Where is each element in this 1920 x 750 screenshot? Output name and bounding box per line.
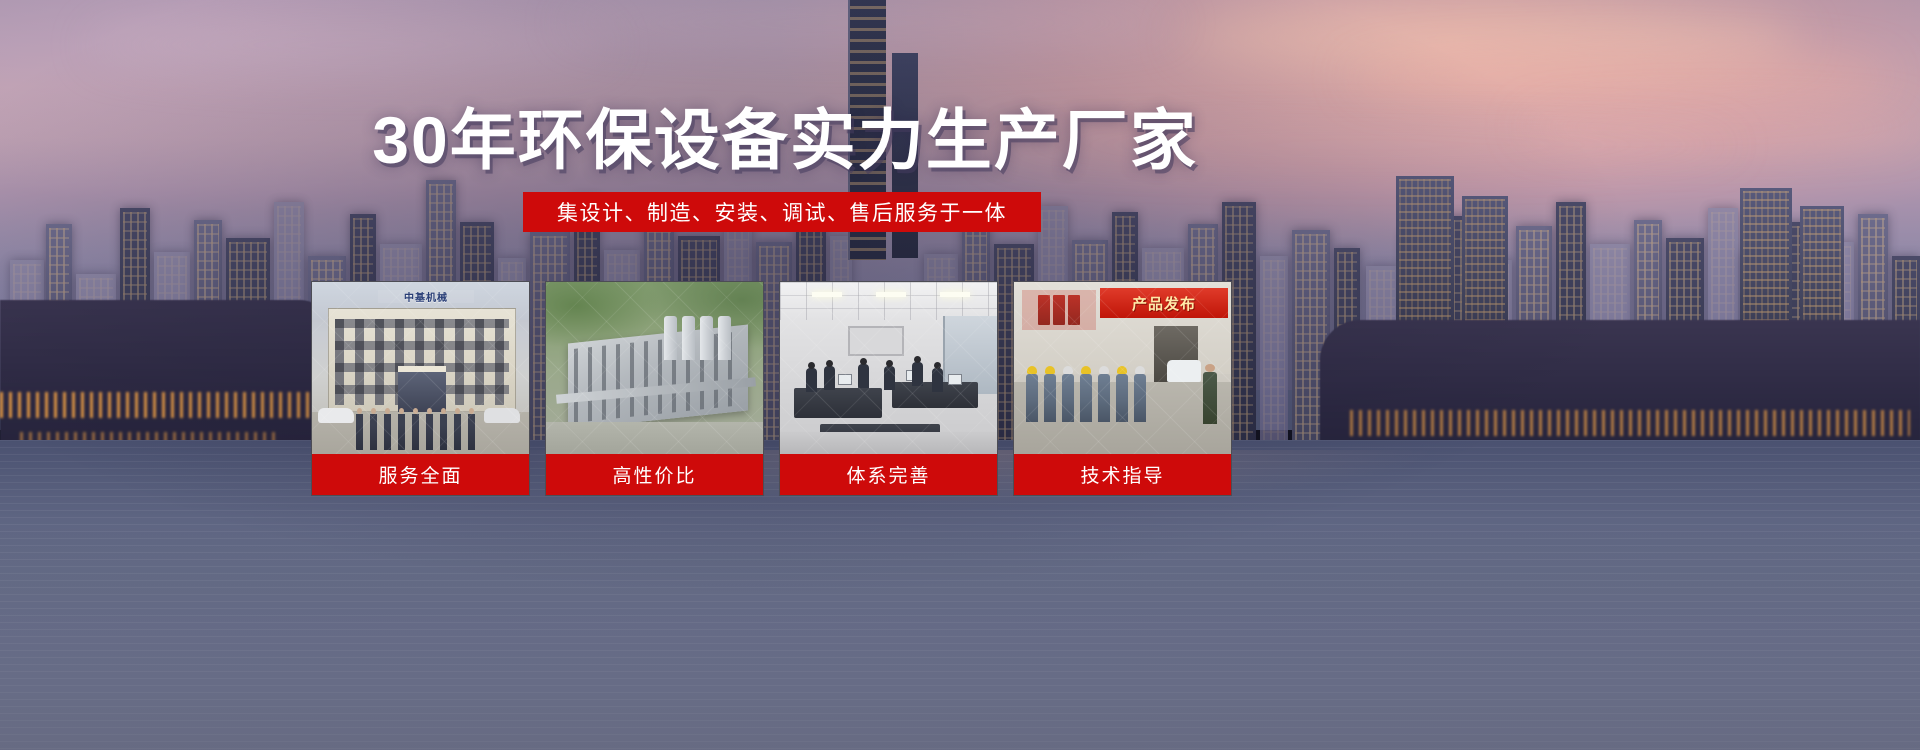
workshop-training-photo: 产品发布 [1014, 282, 1231, 454]
building-sign-text: 中基机械 [378, 290, 474, 303]
feature-card-caption: 服务全面 [312, 454, 529, 495]
aerial-plant-photo [546, 282, 763, 454]
feature-card[interactable]: 体系完善 [779, 281, 998, 496]
banner-headline: 30年环保设备实力生产厂家 [0, 104, 1570, 176]
feature-card-caption: 高性价比 [546, 454, 763, 495]
banner-content: 30年环保设备实力生产厂家 集设计、制造、安装、调试、售后服务于一体 中基机械 [0, 0, 1920, 750]
feature-card-caption: 体系完善 [780, 454, 997, 495]
banner-subtitle-bar: 集设计、制造、安装、调试、售后服务于一体 [523, 192, 1041, 232]
office-interior-photo [780, 282, 997, 454]
feature-card-caption: 技术指导 [1014, 454, 1231, 495]
feature-card-list: 中基机械 服务全面 [311, 281, 1259, 496]
feature-card[interactable]: 中基机械 服务全面 [311, 281, 530, 496]
office-building-photo: 中基机械 [312, 282, 529, 454]
feature-card[interactable]: 高性价比 [545, 281, 764, 496]
workshop-banner-text: 产品发布 [1100, 288, 1228, 318]
banner-subtitle-text: 集设计、制造、安装、调试、售后服务于一体 [557, 197, 1007, 227]
feature-card[interactable]: 产品发布 技术指导 [1013, 281, 1232, 496]
hero-banner: 30年环保设备实力生产厂家 集设计、制造、安装、调试、售后服务于一体 中基机械 [0, 0, 1920, 750]
